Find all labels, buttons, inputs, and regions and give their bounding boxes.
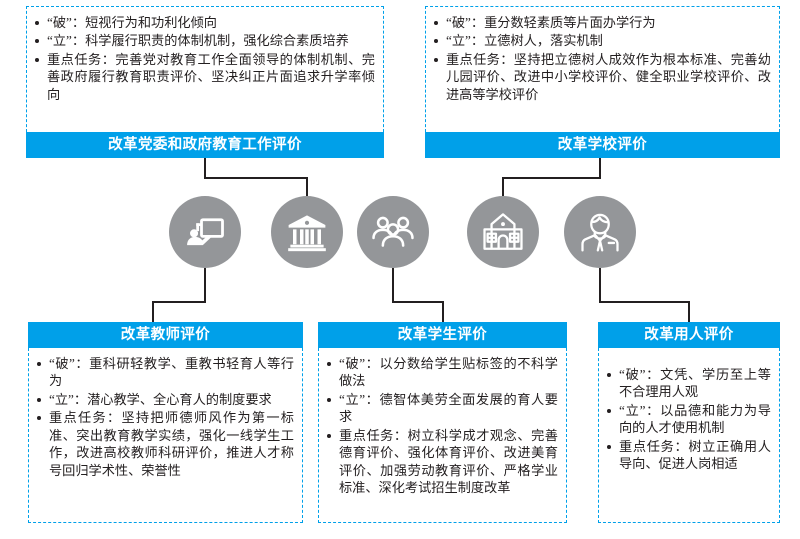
card-title: 改革用人评价 <box>598 322 780 348</box>
icon-circle-people-group[interactable] <box>357 196 429 268</box>
businessman-icon <box>579 211 621 253</box>
list-item: “破”：重分数轻素质等片面办学行为 <box>432 14 771 31</box>
list-item: “破”：短视行为和功利化倾向 <box>33 14 375 31</box>
connector-circle5-bottomright <box>600 268 689 322</box>
card-title: 改革学生评价 <box>318 322 567 348</box>
list-item: “破”：重科研轻教学、重教书轻育人等行为 <box>35 355 294 390</box>
icon-circle-school-building[interactable] <box>467 196 539 268</box>
connector-circle1-bottomleft <box>153 268 205 322</box>
list-item: 重点任务：树立正确用人导向、促进人岗相适 <box>605 438 771 473</box>
list-item: 重点任务：坚持把立德树人成效作为根本标准、完善幼儿园评价、改进中小学校评价、健全… <box>432 51 771 103</box>
bullet-list: “破”：短视行为和功利化倾向 “立”：科学履行职责的体制机制，强化综合素质培养 … <box>33 14 375 103</box>
card-title: 改革党委和政府教育工作评价 <box>26 132 384 158</box>
connector-topright <box>503 158 600 196</box>
bullet-list: “破”：重科研轻教学、重教书轻育人等行为 “立”：潜心教学、全心育人的制度要求 … <box>35 355 294 479</box>
card-teacher-evaluation[interactable]: 改革教师评价 “破”：重科研轻教学、重教书轻育人等行为 “立”：潜心教学、全心育… <box>28 322 303 523</box>
school-building-icon <box>481 210 525 254</box>
card-title: 改革学校评价 <box>425 132 780 158</box>
icon-circle-teacher-presentation[interactable] <box>169 196 241 268</box>
icon-circle-businessman[interactable] <box>564 196 636 268</box>
card-body: “破”：重分数轻素质等片面办学行为 “立”：立德树人，落实机制 重点任务：坚持把… <box>425 6 780 132</box>
icon-circle-government-building[interactable] <box>271 196 343 268</box>
teacher-presentation-icon <box>184 211 226 253</box>
list-item: “立”：以品德和能力为导向的人才使用机制 <box>605 402 771 437</box>
list-item: 重点任务：坚持把师德师风作为第一标准、突出教育教学实绩，强化一线学生工作，改进高… <box>35 409 294 479</box>
government-building-icon <box>286 211 328 253</box>
card-body: “破”：文凭、学历至上等不合理用人观 “立”：以品德和能力为导向的人才使用机制 … <box>598 348 780 523</box>
card-school-evaluation[interactable]: “破”：重分数轻素质等片面办学行为 “立”：立德树人，落实机制 重点任务：坚持把… <box>425 6 780 158</box>
people-group-icon <box>371 210 415 254</box>
bullet-list: “破”：文凭、学历至上等不合理用人观 “立”：以品德和能力为导向的人才使用机制 … <box>605 366 771 473</box>
list-item: 重点任务：完善党对教育工作全面领导的体制机制、完善政府履行教育职责评价、坚决纠正… <box>33 51 375 103</box>
bullet-list: “破”：重分数轻素质等片面办学行为 “立”：立德树人，落实机制 重点任务：坚持把… <box>432 14 771 103</box>
connector-topleft <box>205 158 307 196</box>
list-item: “破”：文凭、学历至上等不合理用人观 <box>605 366 771 401</box>
card-title: 改革教师评价 <box>28 322 303 348</box>
card-employment-evaluation[interactable]: 改革用人评价 “破”：文凭、学历至上等不合理用人观 “立”：以品德和能力为导向的… <box>598 322 780 523</box>
card-party-gov-education-evaluation[interactable]: “破”：短视行为和功利化倾向 “立”：科学履行职责的体制机制，强化综合素质培养 … <box>26 6 384 158</box>
list-item: “破”：以分数给学生贴标签的不科学做法 <box>325 355 558 390</box>
bullet-list: “破”：以分数给学生贴标签的不科学做法 “立”：德智体美劳全面发展的育人要求 重… <box>325 355 558 496</box>
card-body: “破”：重科研轻教学、重教书轻育人等行为 “立”：潜心教学、全心育人的制度要求 … <box>28 348 303 523</box>
list-item: “立”：立德树人，落实机制 <box>432 32 771 49</box>
connector-circle3-bottommiddle <box>393 268 443 322</box>
list-item: “立”：潜心教学、全心育人的制度要求 <box>35 391 294 408</box>
card-body: “破”：以分数给学生贴标签的不科学做法 “立”：德智体美劳全面发展的育人要求 重… <box>318 348 567 523</box>
list-item: “立”：德智体美劳全面发展的育人要求 <box>325 391 558 426</box>
card-student-evaluation[interactable]: 改革学生评价 “破”：以分数给学生贴标签的不科学做法 “立”：德智体美劳全面发展… <box>318 322 567 523</box>
list-item: 重点任务：树立科学成才观念、完善德育评价、强化体育评价、改进美育评价、加强劳动教… <box>325 427 558 497</box>
list-item: “立”：科学履行职责的体制机制，强化综合素质培养 <box>33 32 375 49</box>
card-body: “破”：短视行为和功利化倾向 “立”：科学履行职责的体制机制，强化综合素质培养 … <box>26 6 384 132</box>
